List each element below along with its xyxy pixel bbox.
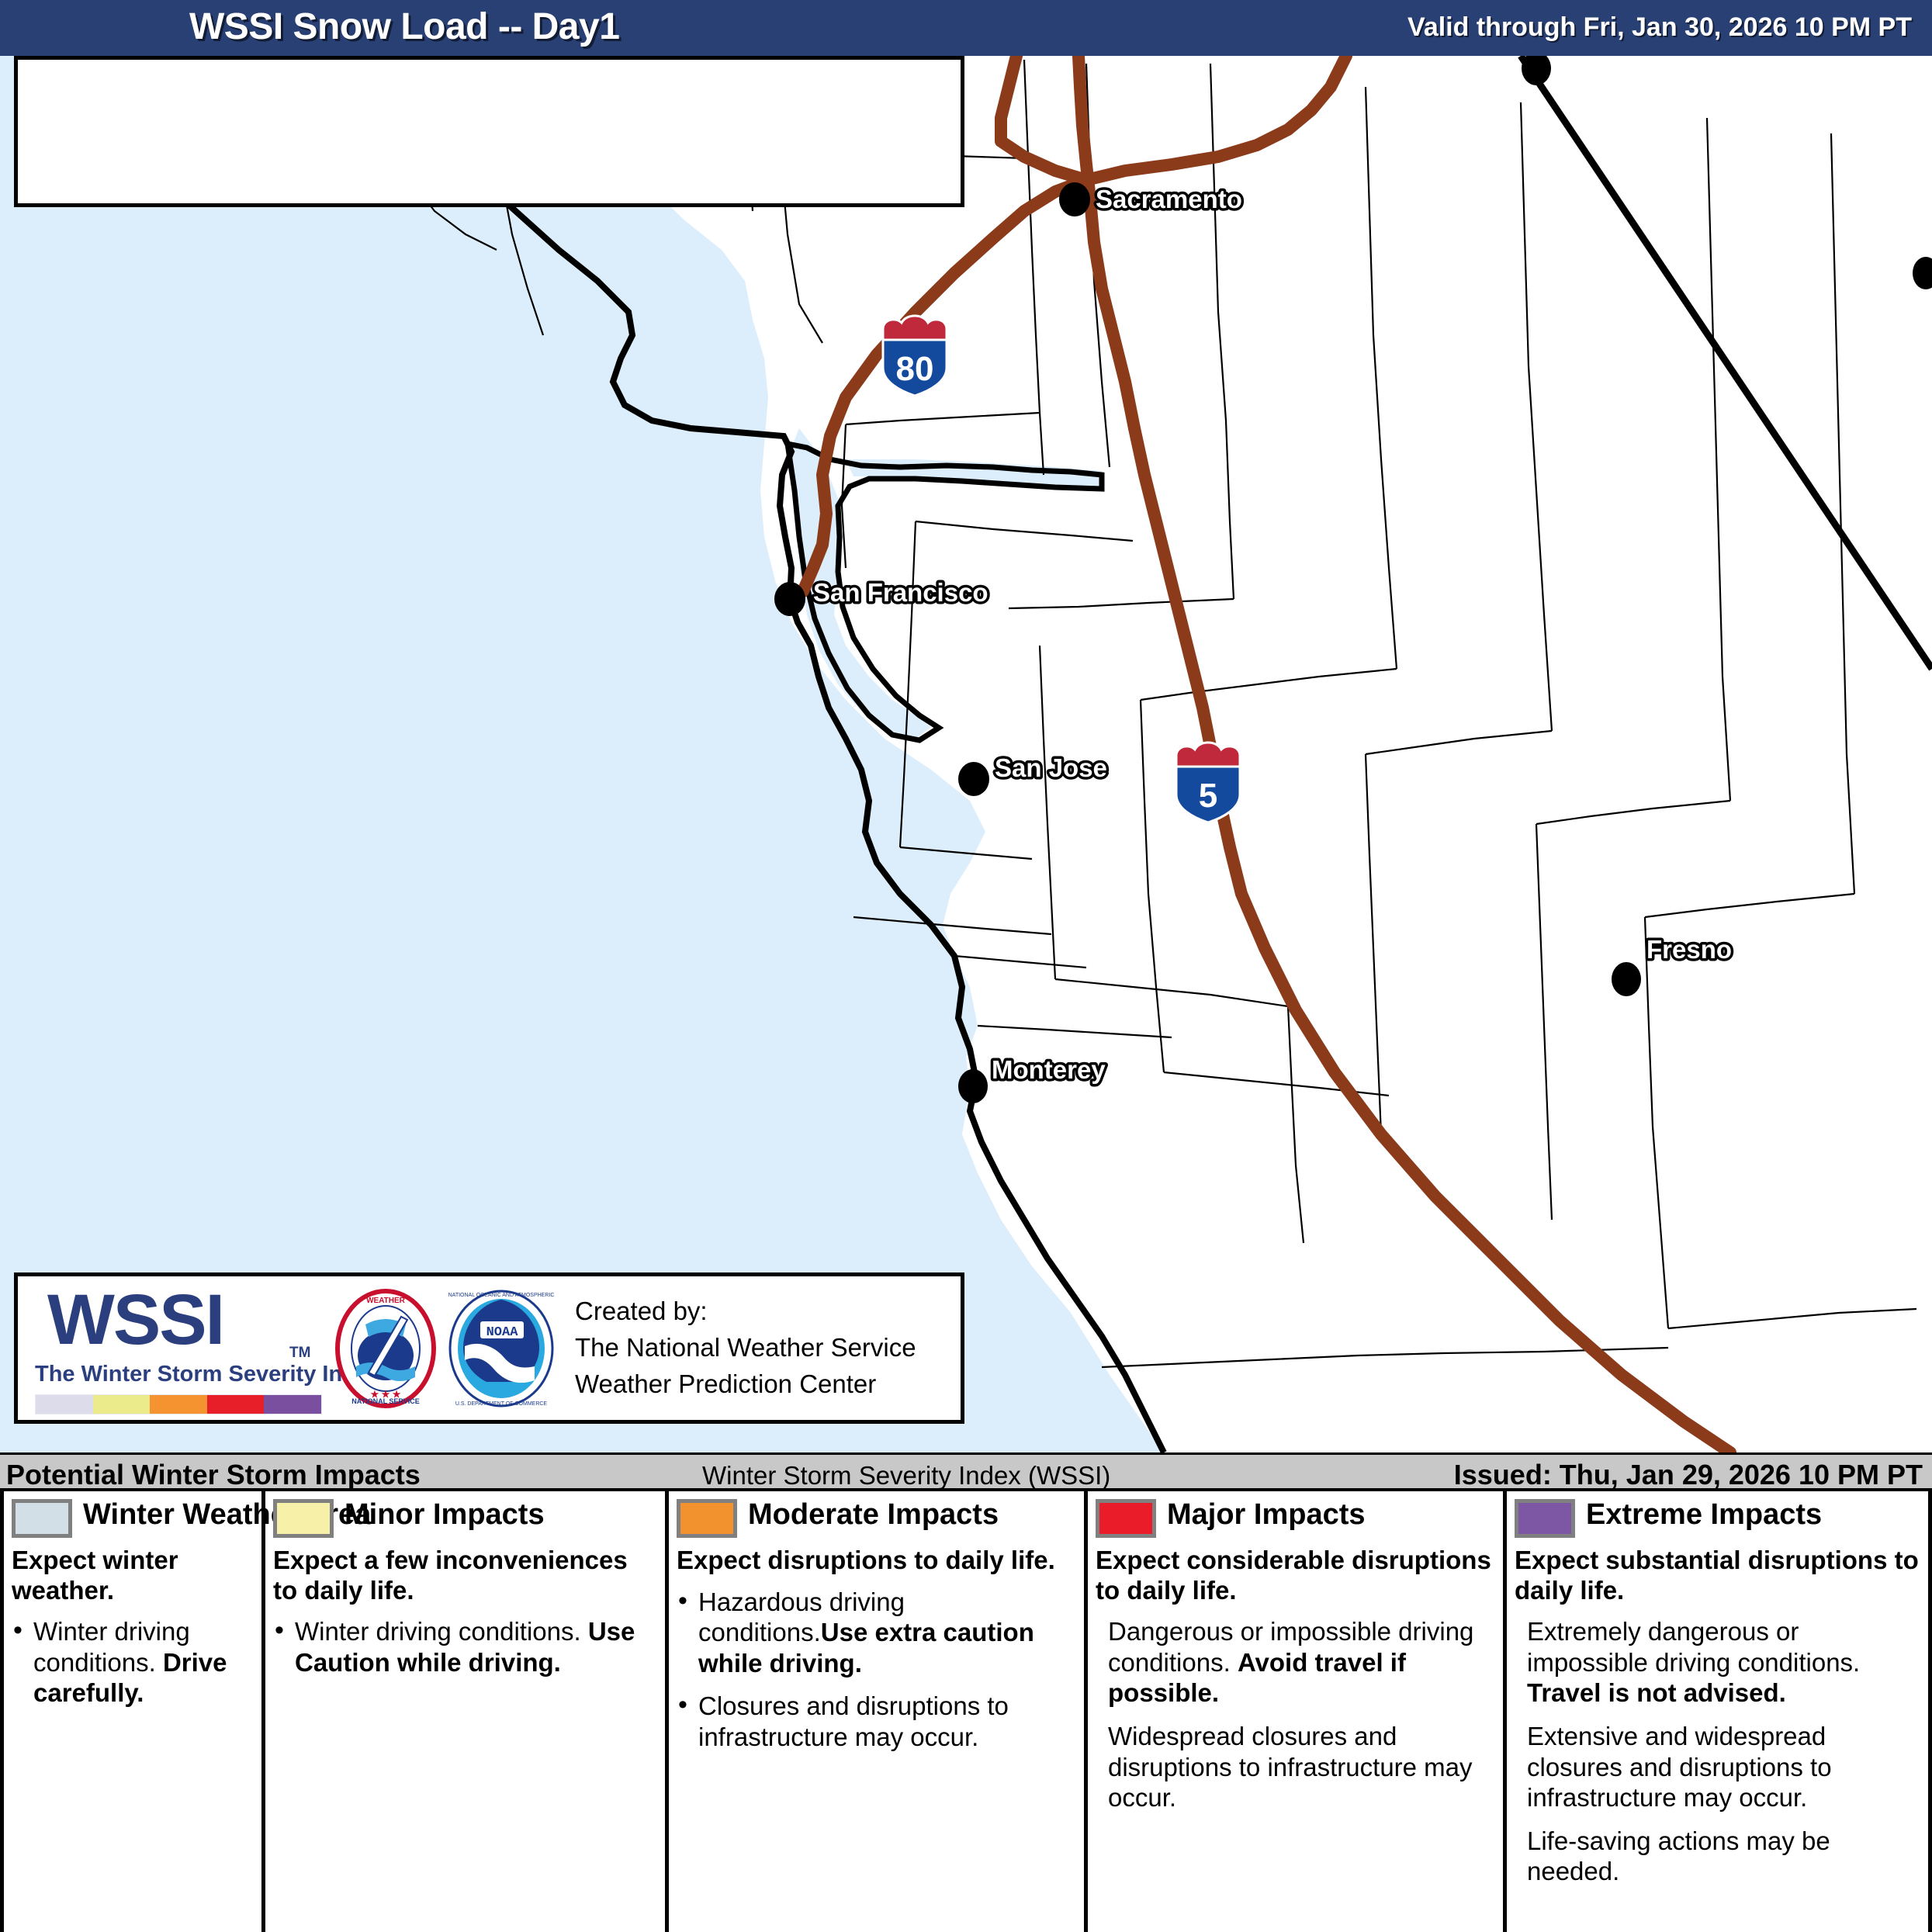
bullet-text-plain: Widespread closures and disruptions to i… [1108,1722,1473,1812]
legend-swatch-moderate-impacts [677,1499,737,1538]
impacts-legend: Winter Weather Area Expect winter weathe… [0,1491,1932,1932]
legend-intro: Expect substantial disruptions to daily … [1515,1546,1920,1605]
city-label-fresno: Fresno [1646,935,1732,964]
bullet-text-plain: Extensive and widespread closures and di… [1527,1722,1832,1812]
legend-swatch-extreme-impacts [1515,1499,1575,1538]
status-wssi-label: Winter Storm Severity Index (WSSI) [702,1461,1110,1491]
gradient-swatch-winter [36,1395,93,1414]
svg-text:WEATHER: WEATHER [366,1297,406,1305]
page-title: WSSI Snow Load -- Day1 [189,5,619,48]
city-label-san-jose: San Jose [995,753,1107,782]
wssi-snow-load-map-page: WSSI Snow Load -- Day1 Valid through Fri… [0,0,1932,1932]
bullet-text-plain: Extremely dangerous or impossible drivin… [1527,1617,1860,1677]
gradient-swatch-major [207,1395,265,1414]
legend-bullet-list: Winter driving conditions. Drive careful… [12,1616,254,1709]
legend-title: Minor Impacts [345,1499,657,1531]
noaa-wordmark: NOAA [486,1325,519,1340]
wssi-logo-panel [14,56,964,207]
legend-column-extreme-impacts[interactable]: Extreme Impacts Expect substantial disru… [1503,1491,1928,1932]
created-by-line-3: Weather Prediction Center [575,1366,916,1403]
bullet-text-bold: Travel is not advised. [1527,1678,1786,1707]
noaa-seal: NOAA NATIONAL OCEANIC AND ATMOSPHERIC U.… [443,1289,559,1409]
city-label-monterey: Monterey [992,1055,1106,1084]
weather-map[interactable]: Sacramento San Francisco San Jose Fresno… [0,56,1932,1452]
city-dot-monterey [958,1069,988,1103]
svg-text:U.S. DEPARTMENT OF COMMERCE: U.S. DEPARTMENT OF COMMERCE [455,1401,548,1407]
gradient-swatch-minor [93,1395,151,1414]
legend-title: Moderate Impacts [748,1499,1076,1531]
legend-column-winter-weather-area[interactable]: Winter Weather Area Expect winter weathe… [4,1491,261,1932]
legend-intro: Expect a few inconveniences to daily lif… [273,1546,657,1605]
valid-through-label: Valid through Fri, Jan 30, 2026 10 PM PT [1407,12,1912,43]
legend-header: Extreme Impacts [1515,1499,1920,1538]
status-issued-label: Issued: Thu, Jan 29, 2026 10 PM PT [1454,1459,1923,1491]
national-weather-service-seal: WEATHER NATIONAL SERVICE ★ ★ ★ [334,1289,437,1409]
legend-intro: Expect disruptions to daily life. [677,1546,1076,1576]
shield-top-red [883,316,947,341]
land-polygon [392,56,1932,1452]
legend-bullet-list: Extremely dangerous or impossible drivin… [1515,1616,1920,1887]
legend-column-minor-impacts[interactable]: Minor Impacts Expect a few inconvenience… [261,1491,665,1932]
legend-bullet: Life-saving actions may be needed. [1515,1826,1920,1887]
legend-intro: Expect winter weather. [12,1546,254,1605]
impacts-status-bar: Potential Winter Storm Impacts Winter St… [0,1452,1932,1491]
legend-bullet: Winter driving conditions. Use Caution w… [273,1616,657,1678]
legend-title: Extreme Impacts [1586,1499,1920,1531]
wssi-tagline: The Winter Storm Severity Index [35,1362,381,1387]
page-header: WSSI Snow Load -- Day1 Valid through Fri… [0,0,1932,56]
status-potential-impacts-label: Potential Winter Storm Impacts [6,1459,421,1491]
legend-header: Major Impacts [1096,1499,1495,1538]
city-label-sacramento: Sacramento [1096,185,1242,213]
interstate-shield-80: 80 [883,316,947,396]
legend-header: Winter Weather Area [12,1499,254,1538]
legend-header: Minor Impacts [273,1499,657,1538]
svg-text:★ ★ ★: ★ ★ ★ [371,1389,401,1400]
legend-bullet-list: Hazardous driving conditions.Use extra c… [677,1587,1076,1753]
legend-swatch-winter-weather-area [12,1499,72,1538]
wssi-wordmark: WSSI [47,1284,223,1356]
created-by-line-2: The National Weather Service [575,1330,916,1366]
created-by-line-1: Created by: [575,1293,916,1330]
trademark-mark: TM [289,1345,310,1362]
legend-intro: Expect considerable disruptions to daily… [1096,1546,1495,1605]
legend-bullet: Winter driving conditions. Drive careful… [12,1616,254,1709]
legend-swatch-major-impacts [1096,1499,1156,1538]
bullet-text-plain: Life-saving actions may be needed. [1527,1826,1830,1886]
legend-bullet: Hazardous driving conditions.Use extra c… [677,1587,1076,1679]
legend-bullet: Widespread closures and disruptions to i… [1096,1721,1495,1813]
legend-bullet: Extremely dangerous or impossible drivin… [1515,1616,1920,1709]
city-label-san-francisco: San Francisco [813,578,989,607]
gradient-swatch-extreme [264,1395,321,1414]
legend-header: Moderate Impacts [677,1499,1076,1538]
interstate-shield-5: 5 [1176,743,1240,822]
shield-route-number: 5 [1199,777,1217,815]
svg-text:NATIONAL OCEANIC AND ATMOSPHER: NATIONAL OCEANIC AND ATMOSPHERIC [448,1293,555,1298]
legend-title: Major Impacts [1167,1499,1495,1531]
legend-bullet: Extensive and widespread closures and di… [1515,1721,1920,1813]
city-dot-sacramento [1059,182,1090,216]
gradient-swatch-moderate [150,1395,207,1414]
bullet-text-plain: Winter driving conditions. [295,1617,588,1646]
bullet-text-plain: Closures and disruptions to infrastructu… [698,1691,1009,1751]
legend-bullet-list: Dangerous or impossible driving conditio… [1096,1616,1495,1813]
wssi-severity-gradient-bar [35,1394,322,1414]
created-by-block: Created by: The National Weather Service… [575,1293,916,1403]
legend-bullet: Closures and disruptions to infrastructu… [677,1691,1076,1752]
map-graphic: Sacramento San Francisco San Jose Fresno… [0,56,1932,1452]
legend-column-major-impacts[interactable]: Major Impacts Expect considerable disrup… [1084,1491,1503,1932]
legend-column-moderate-impacts[interactable]: Moderate Impacts Expect disruptions to d… [665,1491,1084,1932]
city-dot-san-jose [958,762,989,796]
wssi-attribution-box: WSSI TM The Winter Storm Severity Index … [14,1272,964,1424]
legend-bullet-list: Winter driving conditions. Use Caution w… [273,1616,657,1678]
shield-route-number: 80 [896,350,934,388]
city-dot-fresno [1612,962,1641,996]
legend-swatch-minor-impacts [273,1499,334,1538]
city-dot-san-francisco [774,582,805,616]
legend-bullet: Dangerous or impossible driving conditio… [1096,1616,1495,1709]
shield-top-red [1176,743,1240,768]
